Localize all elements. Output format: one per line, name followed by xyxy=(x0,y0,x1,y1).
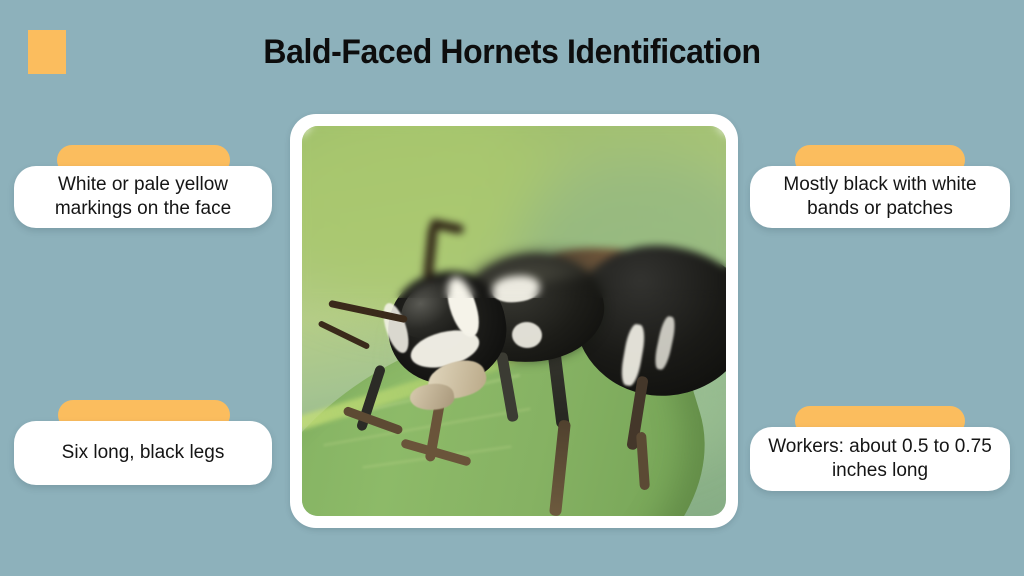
hornet-illustration xyxy=(302,126,726,516)
hornet-leg xyxy=(342,406,403,436)
hornet-antenna xyxy=(318,320,371,350)
fact-card-body: Mostly black with white bands or patches xyxy=(750,166,1010,228)
fact-card-body: White or pale yellow markings on the fac… xyxy=(14,166,272,228)
fact-card-body: Six long, black legs xyxy=(14,421,272,485)
fact-card-bottom-left: Six long, black legs xyxy=(14,400,286,490)
fact-card-top-left: White or pale yellow markings on the fac… xyxy=(14,145,286,235)
fact-card-text: Mostly black with white bands or patches xyxy=(750,173,1010,221)
header: Bald-Faced Hornets Identification xyxy=(0,0,1024,106)
fact-card-top-right: Mostly black with white bands or patches xyxy=(750,145,1024,235)
hornet-leg xyxy=(549,420,571,516)
hornet-antenna xyxy=(423,226,437,279)
hornet-leg xyxy=(636,432,650,491)
hornet-mandible xyxy=(408,381,455,413)
fact-card-text: Six long, black legs xyxy=(50,441,237,465)
fact-card-bottom-right: Workers: about 0.5 to 0.75 inches long xyxy=(750,406,1024,498)
hornet-photo xyxy=(302,126,726,516)
fact-card-text: Workers: about 0.5 to 0.75 inches long xyxy=(750,435,1010,483)
page-title: Bald-Faced Hornets Identification xyxy=(31,30,994,74)
fact-card-body: Workers: about 0.5 to 0.75 inches long xyxy=(750,427,1010,491)
hornet-photo-frame xyxy=(290,114,738,528)
hornet-leg xyxy=(496,352,519,423)
fact-card-text: White or pale yellow markings on the fac… xyxy=(14,173,272,221)
